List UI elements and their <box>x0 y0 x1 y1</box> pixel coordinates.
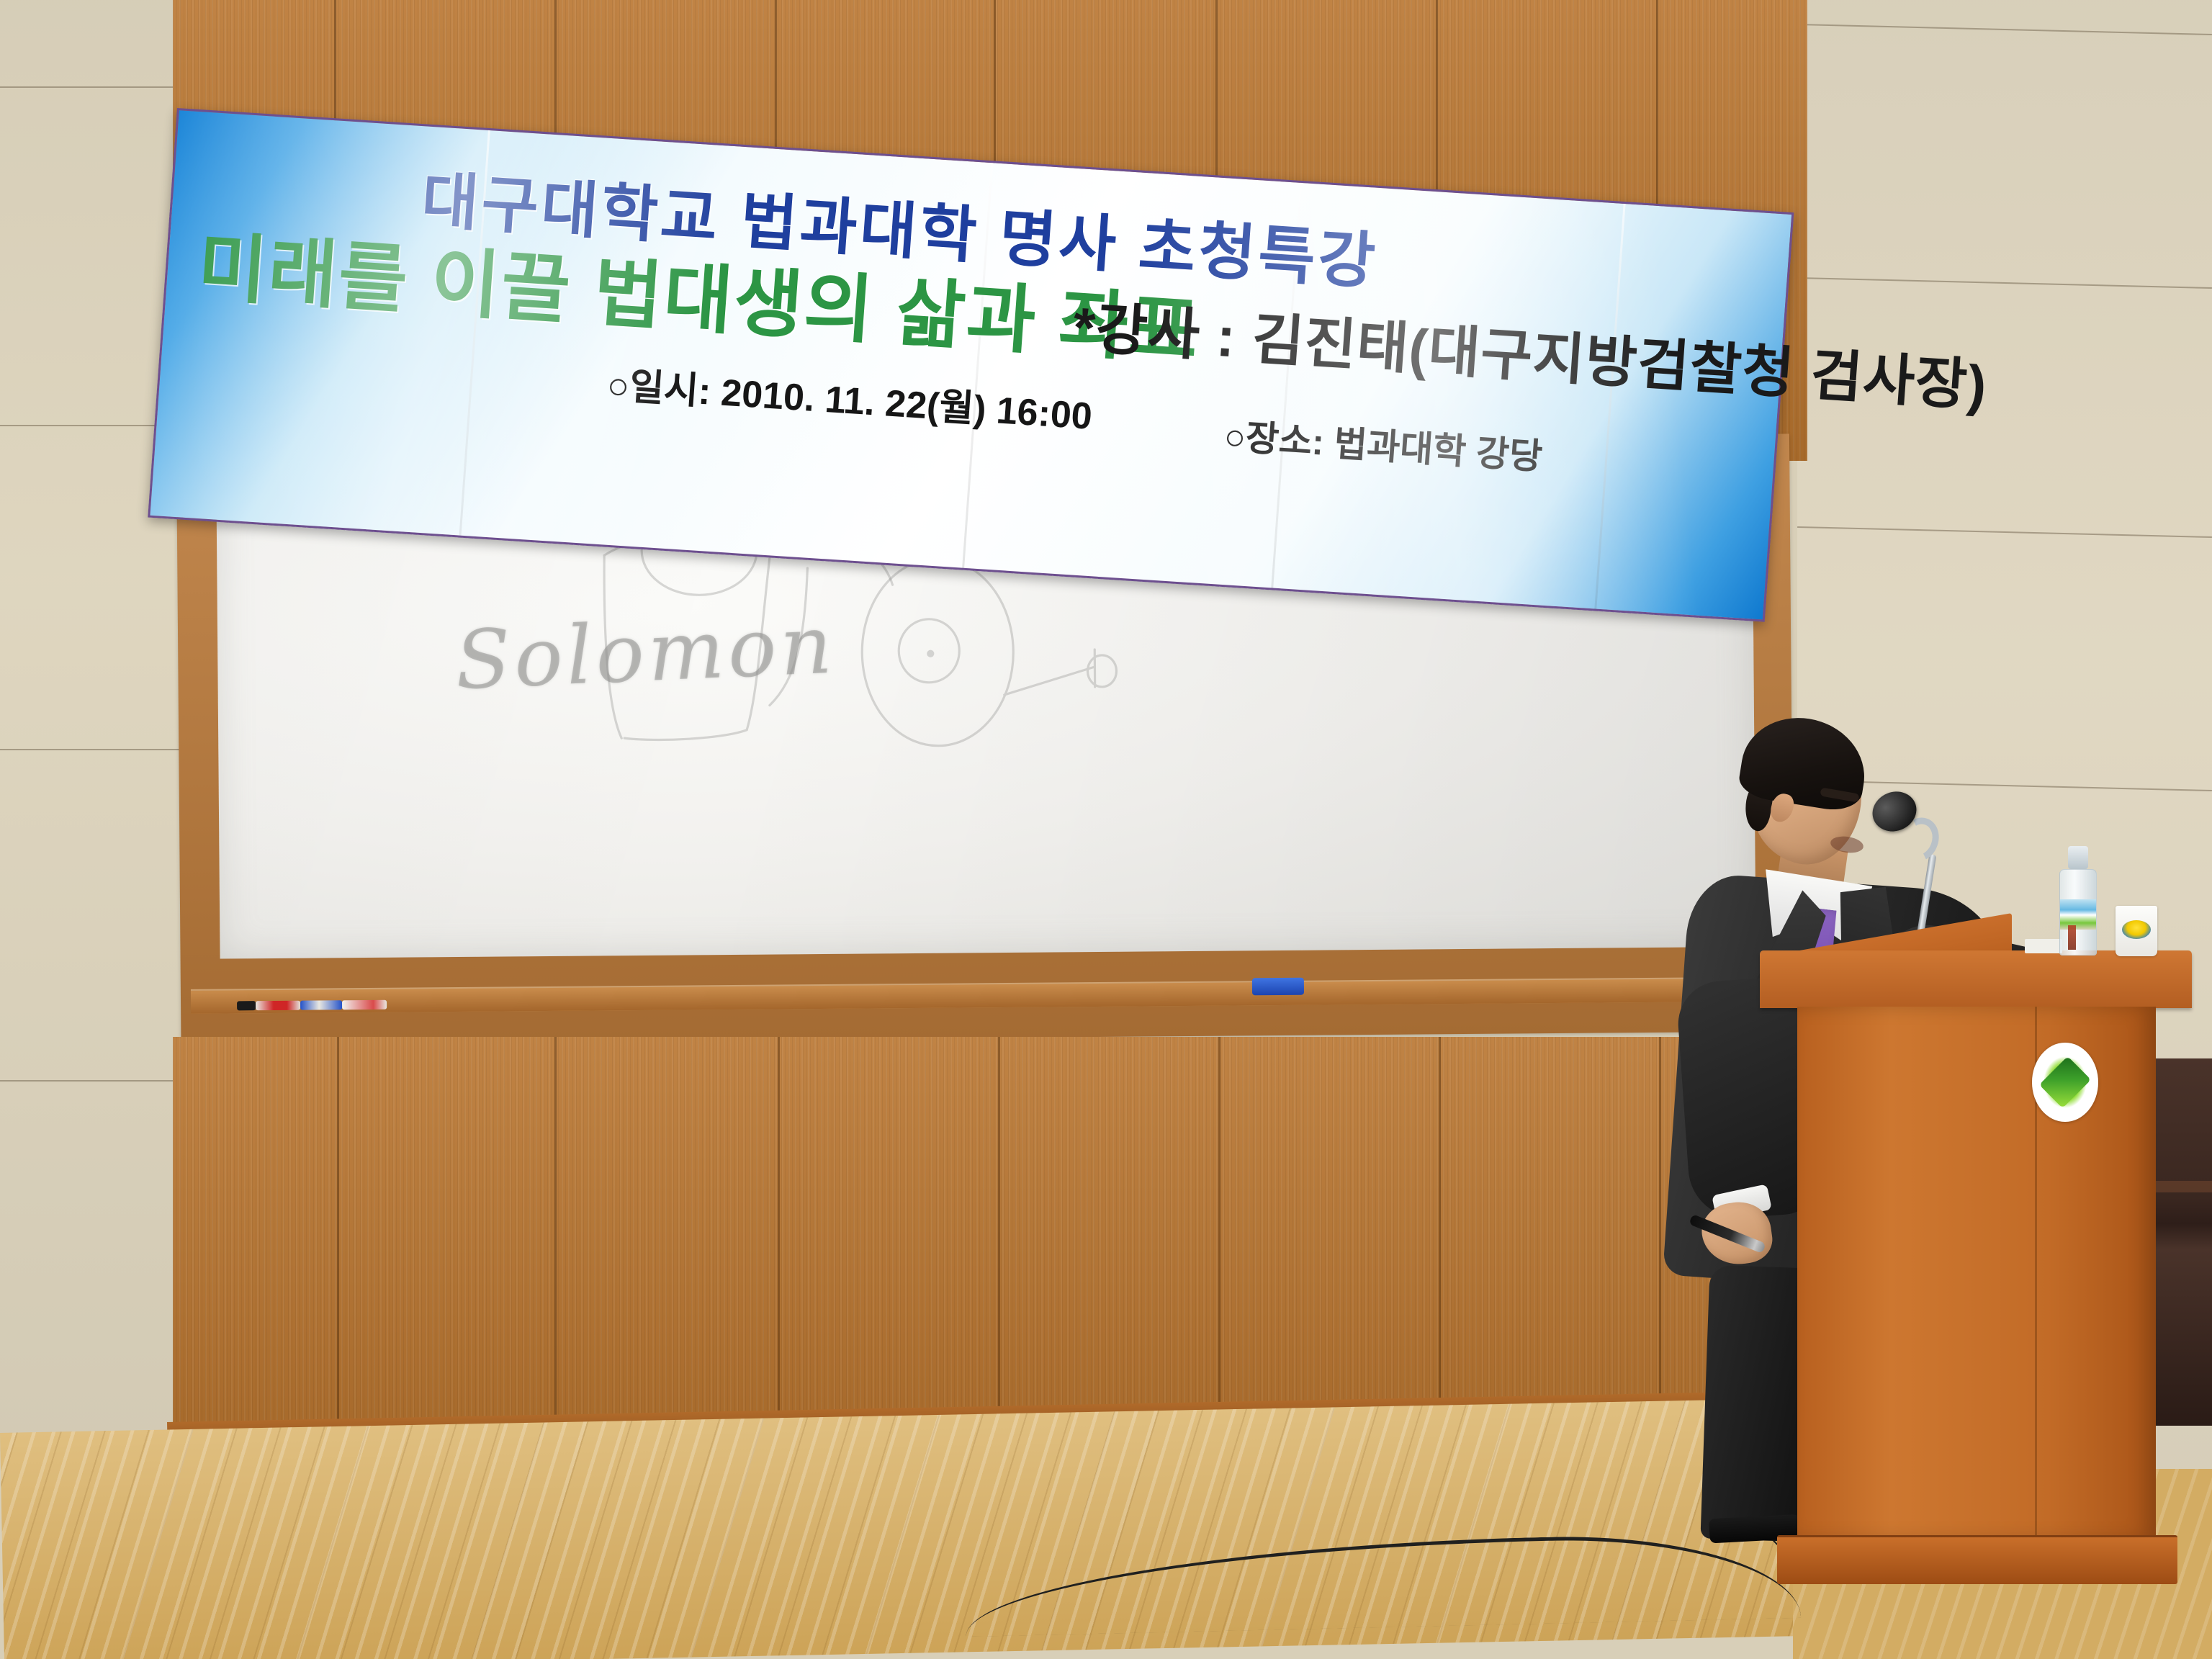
cup-logo-icon <box>2122 920 2151 939</box>
university-emblem-icon <box>2032 1043 2098 1122</box>
lower-wood-paneling <box>173 1037 1807 1447</box>
paper-slip <box>2025 939 2062 953</box>
lecture-hall-photo: Solomon <box>0 0 2212 1659</box>
podium <box>1760 950 2192 1599</box>
blue-marker[interactable] <box>300 1000 342 1010</box>
red-marker[interactable] <box>256 1001 300 1010</box>
podium-base-plinth <box>1777 1535 2177 1584</box>
left-wall-panel <box>0 0 181 1452</box>
white-marker[interactable] <box>342 1000 387 1010</box>
paper-cup[interactable] <box>2116 906 2157 956</box>
podium-body <box>1797 1007 2156 1539</box>
blue-eraser[interactable] <box>1252 978 1304 996</box>
marker-tray <box>191 976 1785 1013</box>
banner-location: ○장소: 법과대학 강당 <box>1223 408 1545 480</box>
podium-top-surface <box>1760 950 2192 1008</box>
black-marker[interactable] <box>237 1001 256 1010</box>
water-bottle[interactable] <box>2059 846 2097 956</box>
